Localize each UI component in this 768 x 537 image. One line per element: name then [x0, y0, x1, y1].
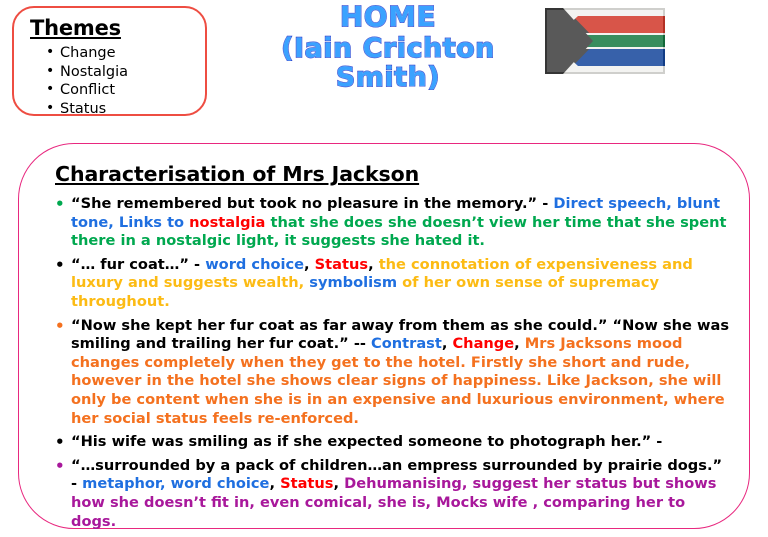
point-text-run: ,: [269, 475, 280, 492]
point-text-run: ,: [442, 335, 453, 352]
point-text-run: Status: [315, 256, 368, 273]
point-text-run: word choice: [205, 256, 304, 273]
south-africa-flag-icon: [545, 8, 665, 74]
themes-item: Status: [60, 100, 205, 119]
bullet-icon: •: [55, 256, 65, 275]
point-text-run: metaphor, word choice: [82, 475, 269, 492]
themes-title: Themes: [30, 16, 205, 40]
point-text-run: ,: [333, 475, 344, 492]
point-text-run: ,: [368, 256, 379, 273]
themes-box: Themes Change Nostalgia Conflict Status: [12, 6, 207, 116]
point-text-run: ,: [514, 335, 525, 352]
point-text-run: Status: [280, 475, 333, 492]
point-text-run: Contrast: [371, 335, 442, 352]
analysis-points-list: •“She remembered but took no pleasure in…: [19, 195, 749, 531]
analysis-point: •“Now she kept her fur coat as far away …: [19, 317, 749, 429]
themes-item: Change: [60, 44, 205, 63]
themes-list: Change Nostalgia Conflict Status: [14, 44, 205, 118]
bullet-icon: •: [55, 433, 65, 452]
analysis-point: •“…surrounded by a pack of children…an e…: [19, 457, 749, 531]
analysis-point: •“His wife was smiling as if she expecte…: [19, 433, 749, 452]
point-text-run: “She remembered but took no pleasure in …: [71, 195, 553, 212]
bullet-icon: •: [55, 317, 65, 336]
themes-item: Conflict: [60, 81, 205, 100]
point-text-run: “… fur coat…” -: [71, 256, 205, 273]
point-text-run: nostalgia: [189, 214, 265, 231]
bullet-icon: •: [55, 457, 65, 476]
point-text-run: “His wife was smiling as if she expected…: [71, 433, 662, 450]
title-line-author: (Iain Crichton Smith): [228, 34, 548, 92]
characterisation-heading: Characterisation of Mrs Jackson: [55, 162, 749, 186]
point-text-run: ,: [304, 256, 315, 273]
title-line-home: HOME: [228, 2, 548, 32]
themes-item: Nostalgia: [60, 63, 205, 82]
point-text-run: Change: [452, 335, 514, 352]
characterisation-box: Characterisation of Mrs Jackson •“She re…: [18, 143, 750, 529]
page-title: HOME (Iain Crichton Smith): [228, 2, 548, 93]
analysis-point: •“… fur coat…” - word choice, Status, th…: [19, 256, 749, 312]
analysis-point: •“She remembered but took no pleasure in…: [19, 195, 749, 251]
point-text-run: symbolism: [309, 274, 397, 291]
bullet-icon: •: [55, 195, 65, 214]
